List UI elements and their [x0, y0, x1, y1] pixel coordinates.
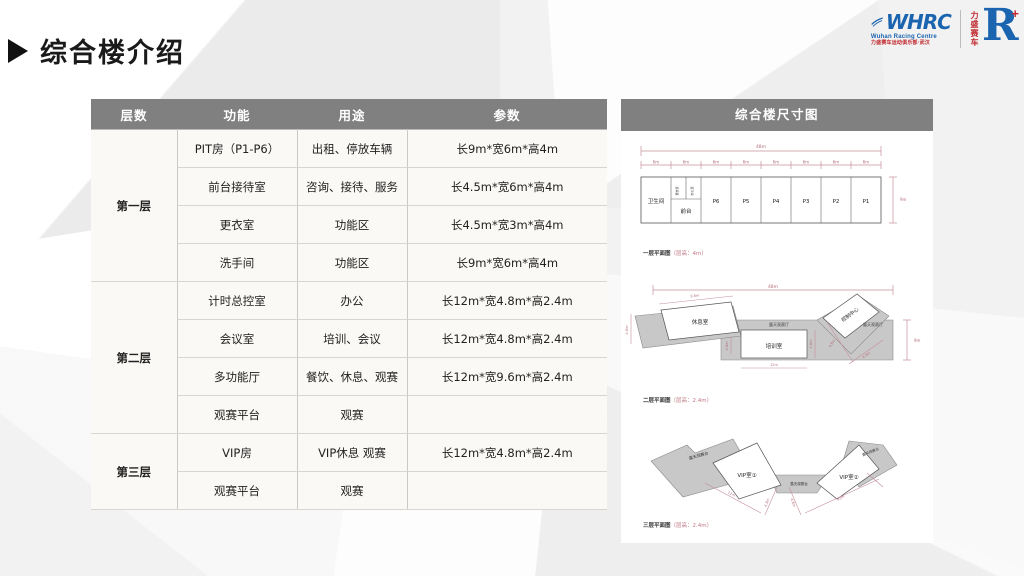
room-label-terrace-b: 露天观赛厅 [863, 321, 883, 327]
cell-parameter [407, 472, 607, 510]
cell-usage: 办公 [297, 282, 407, 320]
plan-1-height-text: （层高：4m） [671, 251, 707, 257]
cell-floor: 第三层 [91, 434, 177, 510]
whrc-text: WHRC [886, 12, 951, 32]
page-title-row: 综合楼介绍 [8, 31, 185, 70]
cell-parameter: 长12m*宽4.8m*高2.4m [407, 282, 607, 320]
th-parameter: 参数 [407, 99, 607, 130]
diagram-panel-title: 综合楼尺寸图 [621, 99, 933, 131]
dim-f3-b: 4.8m [764, 497, 771, 507]
cell-usage: VIP休息 观赛 [297, 434, 407, 472]
diagram-panel-body: 48m 6m 6m 6m 6m 6m 6m 6m [621, 131, 933, 543]
cell-function: 前台接待室 [177, 168, 297, 206]
swoosh-icon [871, 16, 884, 29]
plan-2-caption-text: 二层平面图 [643, 398, 671, 404]
th-floor: 层数 [91, 99, 177, 130]
cell-parameter: 长12m*宽9.6m*高2.4m [407, 358, 607, 396]
svg-text:6m: 6m [683, 160, 690, 165]
room-label-training: 培训室 [766, 342, 783, 350]
room-label-p4: P4 [773, 199, 780, 205]
dim-f2-g: 4.8m [725, 341, 729, 351]
cell-function: 计时总控室 [177, 282, 297, 320]
plan-2-caption: 二层平面图（层高：2.4m） [643, 396, 712, 404]
dim-depth-9m-f2: 9m [914, 338, 921, 343]
cell-function: 多功能厅 [177, 358, 297, 396]
plan-3-caption-text: 三层平面图 [643, 523, 671, 529]
lisheng-chinese-name: 力盛赛车 [970, 11, 979, 47]
svg-text:6m: 6m [743, 160, 750, 165]
dim-f2-d: 4.8m [809, 339, 813, 349]
page-title: 综合楼介绍 [40, 31, 185, 70]
cell-usage: 培训、会议 [297, 320, 407, 358]
room-label-vip1: VIP室① [737, 471, 756, 479]
cell-function: 观赛平台 [177, 396, 297, 434]
cell-floor: 第一层 [91, 130, 177, 282]
cell-usage: 咨询、接待、服务 [297, 168, 407, 206]
cell-usage: 出租、停放车辆 [297, 130, 407, 168]
table-header-row: 层数 功能 用途 参数 [91, 99, 607, 130]
dimension-diagram-panel: 综合楼尺寸图 48m 6m 6 [621, 99, 933, 543]
cell-function: PIT房（P1-P6） [177, 130, 297, 168]
cell-usage: 功能区 [297, 206, 407, 244]
svg-text:6m: 6m [713, 160, 720, 165]
th-usage: 用途 [297, 99, 407, 130]
floor-plan-3: 露天观赛台 VIP室① 露天观赛台 VIP室② 露天观赛台 12m 4.8m 4… [621, 421, 933, 543]
table-body: 第一层PIT房（P1-P6）出租、停放车辆长9m*宽6m*高4m前台接待室咨询、… [91, 130, 607, 510]
dim-depth-9m: 9m [900, 197, 907, 202]
triangle-right-icon [8, 39, 28, 63]
cell-function: VIP房 [177, 434, 297, 472]
svg-text:6m: 6m [863, 160, 870, 165]
dim-f2-b: 9.6m [690, 293, 700, 298]
slide-header: 综合楼介绍 WHRC Wuhan Racing Centre 力盛赛车运动俱乐部… [0, 0, 1024, 78]
cell-floor: 第二层 [91, 282, 177, 434]
table-row: 第三层VIP房VIP休息 观赛长12m*宽4.8m*高2.4m [91, 434, 607, 472]
whrc-wordmark: WHRC [871, 12, 951, 32]
room-label-p2: P2 [833, 199, 840, 205]
svg-text:6m: 6m [773, 160, 780, 165]
cell-parameter: 长12m*宽4.8m*高2.4m [407, 320, 607, 358]
building-spec-table-wrapper: 层数 功能 用途 参数 第一层PIT房（P1-P6）出租、停放车辆长9m*宽6m… [91, 99, 607, 510]
room-label-p1: P1 [863, 199, 870, 205]
room-label-p6: P6 [713, 199, 720, 205]
cell-parameter: 长4.5m*宽3m*高4m [407, 206, 607, 244]
svg-text:6m: 6m [833, 160, 840, 165]
cell-parameter: 长12m*宽4.8m*高2.4m [407, 434, 607, 472]
cell-usage: 观赛 [297, 472, 407, 510]
dim-total-48m: 48m [756, 144, 766, 150]
logo-divider [960, 10, 961, 48]
th-function: 功能 [177, 99, 297, 130]
cell-function: 更衣室 [177, 206, 297, 244]
cell-parameter: 长4.5m*宽6m*高4m [407, 168, 607, 206]
building-spec-table: 层数 功能 用途 参数 第一层PIT房（P1-P6）出租、停放车辆长9m*宽6m… [91, 99, 607, 510]
room-label-office: 办公室 [689, 186, 694, 195]
svg-text:6m: 6m [803, 160, 810, 165]
dim-f2-a: 4.8m [625, 325, 629, 335]
table-row: 第一层PIT房（P1-P6）出租、停放车辆长9m*宽6m*高4m [91, 130, 607, 168]
floor-plan-2: 48m 休息室 培训室 控制中心 露天观赛厅 露天观赛厅 [621, 278, 933, 418]
svg-text:6m: 6m [653, 160, 660, 165]
room-label-p3: P3 [803, 199, 810, 205]
plan-2-height-text: （层高：2.4m） [671, 398, 713, 404]
room-label-changing: 更衣室 [674, 186, 679, 195]
room-label-terrace-2: 露天观赛台 [790, 481, 808, 486]
room-label-lounge: 休息室 [692, 318, 709, 326]
lisheng-logo: 力盛赛车 R + [970, 8, 1016, 50]
plan-1-caption-text: 一层平面图 [643, 251, 671, 257]
cell-usage: 观赛 [297, 396, 407, 434]
room-label-reception: 前台 [680, 207, 692, 215]
cell-usage: 功能区 [297, 244, 407, 282]
plus-glyph: + [1011, 6, 1019, 21]
room-label-vip2: VIP室② [839, 473, 858, 481]
plan-1-caption: 一层平面图（层高：4m） [643, 249, 707, 257]
room-label-terrace-a: 露天观赛厅 [769, 321, 789, 327]
dim-total-48m-f2: 48m [768, 284, 778, 290]
plan-3-caption: 三层平面图（层高：2.4m） [643, 521, 712, 529]
brand-logo: WHRC Wuhan Racing Centre 力盛赛车运动俱乐部·武汉 力盛… [871, 4, 1016, 54]
cell-parameter [407, 396, 607, 434]
cell-parameter: 长9m*宽6m*高4m [407, 244, 607, 282]
cell-usage: 餐饮、休息、观赛 [297, 358, 407, 396]
cell-parameter: 长9m*宽6m*高4m [407, 130, 607, 168]
table-row: 第二层计时总控室办公长12m*宽4.8m*高2.4m [91, 282, 607, 320]
whrc-logo: WHRC Wuhan Racing Centre 力盛赛车运动俱乐部·武汉 [871, 12, 951, 46]
room-label-p5: P5 [743, 199, 750, 205]
dim-f2-c: 12m [770, 363, 778, 367]
cell-function: 观赛平台 [177, 472, 297, 510]
whrc-chinese-name: 力盛赛车运动俱乐部·武汉 [871, 41, 930, 46]
r-plus-mark: R + [982, 8, 1016, 50]
floor-plan-1: 48m 6m 6m 6m 6m 6m 6m 6m [621, 137, 933, 272]
plan-3-height-text: （层高：2.4m） [671, 523, 713, 529]
cell-function: 会议室 [177, 320, 297, 358]
room-label-restroom: 卫生间 [648, 197, 665, 205]
dim-f3-c: 4.8m [789, 498, 796, 508]
cell-function: 洗手间 [177, 244, 297, 282]
